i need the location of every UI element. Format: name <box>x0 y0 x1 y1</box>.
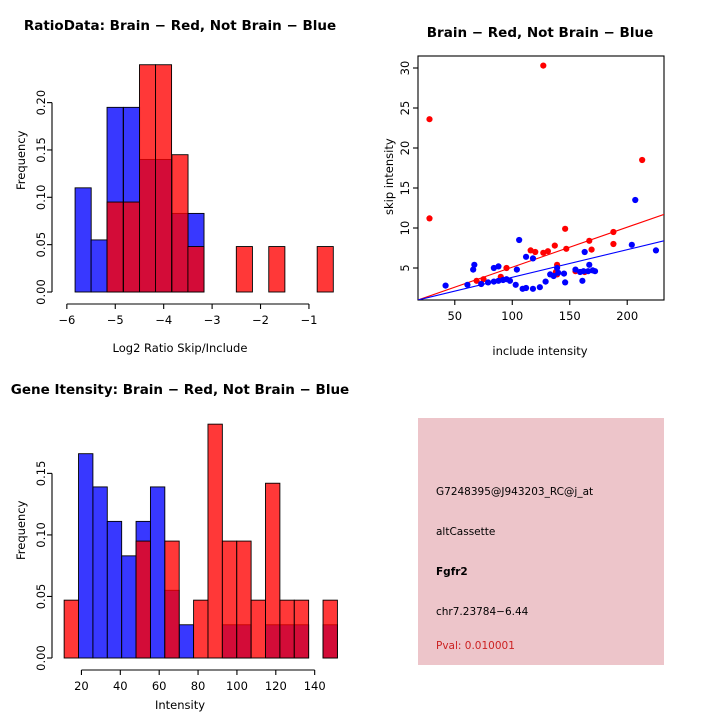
scatter-point-not-brain <box>491 279 497 285</box>
gene-bar-brain <box>136 541 150 658</box>
gene-bar-brain <box>222 541 236 658</box>
gene-bar-brain <box>64 600 78 658</box>
ratio-histogram-xlabel: Log2 Ratio Skip/Include <box>0 341 360 355</box>
gene-xtick-label: 100 <box>226 679 248 693</box>
scatter-point-not-brain <box>514 267 520 273</box>
panel-annotation: G7248395@J943203_RC@j_at altCassette Fgf… <box>360 360 720 720</box>
gene-bar-not-brain <box>79 454 93 658</box>
scatter-point-brain <box>426 215 432 221</box>
scatter-point-not-brain <box>542 279 548 285</box>
ratio-ytick-label: 0.10 <box>34 185 48 211</box>
ratio-xtick-label: −4 <box>155 313 172 327</box>
gene-histogram-title: Gene Itensity: Brain − Red, Not Brain − … <box>0 382 360 398</box>
scatter-point-not-brain <box>586 262 592 268</box>
ratio-bar-brain <box>123 202 139 292</box>
gene-xtick-label: 60 <box>152 679 167 693</box>
scatter-plot-group: 5101520253050100150200 <box>398 56 664 323</box>
scatter-point-brain <box>610 229 616 235</box>
ratio-histogram-ylabel: Frequency <box>14 131 28 190</box>
gene-bar-brain <box>266 483 280 658</box>
scatter-xlabel: include intensity <box>360 344 720 358</box>
scatter-ytick-label: 10 <box>398 221 412 236</box>
ratio-ytick-label: 0.00 <box>34 279 48 305</box>
scatter-point-not-brain <box>629 242 635 248</box>
ratio-bar-brain <box>269 247 285 292</box>
scatter-fit-line-not-brain-fit <box>418 241 664 300</box>
ratio-bar-not-brain <box>75 188 91 292</box>
scatter-point-not-brain <box>516 237 522 243</box>
scatter-point-brain <box>426 116 432 122</box>
ratio-ytick-label: 0.15 <box>34 137 48 163</box>
ratio-xtick-label: −3 <box>204 313 221 327</box>
scatter-point-not-brain <box>582 249 588 255</box>
gene-bar-not-brain <box>107 521 121 658</box>
scatter-plot: 5101520253050100150200 <box>360 0 720 360</box>
gene-symbol-text: Fgfr2 <box>436 566 468 578</box>
scatter-point-brain <box>563 246 569 252</box>
gene-histogram-plot: 0.000.050.100.1520406080100120140 <box>0 360 360 720</box>
ratio-histogram-plot: 0.000.050.100.150.20−6−5−4−3−2−1 <box>0 0 360 360</box>
gene-xtick-label: 20 <box>74 679 89 693</box>
ratio-bar-brain <box>172 155 188 292</box>
scatter-point-brain <box>540 250 546 256</box>
scatter-point-not-brain <box>547 271 553 277</box>
ratio-plot-group: 0.000.050.100.150.20−6−5−4−3−2−1 <box>34 65 333 327</box>
scatter-point-not-brain <box>561 271 567 277</box>
scatter-ytick-label: 25 <box>398 101 412 116</box>
ratio-ytick-label: 0.05 <box>34 232 48 258</box>
gene-bar-brain <box>294 600 308 658</box>
event-type-text: altCassette <box>436 526 495 538</box>
scatter-point-not-brain <box>491 265 497 271</box>
scatter-ytick-label: 15 <box>398 181 412 196</box>
gene-xtick-label: 140 <box>304 679 326 693</box>
gene-bar-brain <box>280 600 294 658</box>
scatter-point-brain <box>639 157 645 163</box>
scatter-point-not-brain <box>513 282 519 288</box>
gene-ytick-label: 0.00 <box>34 645 48 671</box>
scatter-point-not-brain <box>520 286 526 292</box>
ratio-xtick-label: −6 <box>58 313 75 327</box>
ratio-bar-brain <box>139 65 155 292</box>
annotation-box: G7248395@J943203_RC@j_at altCassette Fgf… <box>418 418 664 665</box>
gene-bar-not-brain <box>122 556 136 658</box>
scatter-inner <box>418 63 664 301</box>
scatter-point-not-brain <box>632 197 638 203</box>
gene-ytick-label: 0.10 <box>34 522 48 548</box>
ratio-bar-not-brain <box>91 240 107 292</box>
scatter-ytick-label: 20 <box>398 141 412 156</box>
gene-bar-brain <box>251 600 265 658</box>
gene-bar-brain <box>194 600 208 658</box>
scatter-point-brain <box>586 238 592 244</box>
scatter-point-not-brain <box>464 282 470 288</box>
scatter-point-not-brain <box>653 247 659 253</box>
ratio-bar-brain <box>236 247 252 292</box>
scatter-point-not-brain <box>478 281 484 287</box>
scatter-point-brain <box>503 265 509 271</box>
scatter-xtick-label: 50 <box>447 309 462 323</box>
scatter-xtick-label: 200 <box>616 309 638 323</box>
locus-text: chr7.23784−6.44 <box>436 606 528 618</box>
scatter-ytick-label: 30 <box>398 61 412 76</box>
scatter-title: Brain − Red, Not Brain − Blue <box>360 25 720 41</box>
gene-xtick-label: 120 <box>265 679 287 693</box>
scatter-xtick-label: 150 <box>559 309 581 323</box>
ratio-bar-brain <box>188 247 204 292</box>
scatter-point-not-brain <box>572 267 578 273</box>
panel-gene-histogram: Gene Itensity: Brain − Red, Not Brain − … <box>0 360 360 720</box>
scatter-point-not-brain <box>592 268 598 274</box>
scatter-point-not-brain <box>537 284 543 290</box>
scatter-point-brain <box>610 241 616 247</box>
gene-ytick-label: 0.15 <box>34 461 48 487</box>
gene-bar-brain <box>165 541 179 658</box>
scatter-point-not-brain <box>579 278 585 284</box>
scatter-point-not-brain <box>485 279 491 285</box>
scatter-plot-frame <box>418 56 664 300</box>
scatter-point-brain <box>540 63 546 69</box>
ratio-bar-brain <box>155 65 171 292</box>
gene-plot-group: 0.000.050.100.1520406080100120140 <box>34 424 337 693</box>
gene-bar-not-brain <box>150 487 164 658</box>
scatter-point-not-brain <box>562 279 568 285</box>
gene-histogram-ylabel: Frequency <box>14 501 28 560</box>
panel-ratio-histogram: RatioData: Brain − Red, Not Brain − Blue… <box>0 0 360 360</box>
ratio-xtick-label: −5 <box>107 313 124 327</box>
scatter-point-not-brain <box>442 283 448 289</box>
scatter-point-brain <box>588 247 594 253</box>
gene-bar-not-brain <box>93 487 107 658</box>
pval-text: Pval: 0.010001 <box>436 640 515 652</box>
scatter-xtick-label: 100 <box>501 309 523 323</box>
gene-ytick-label: 0.05 <box>34 584 48 610</box>
gene-bar-brain <box>208 424 222 658</box>
figure-canvas: RatioData: Brain − Red, Not Brain − Blue… <box>0 0 720 720</box>
scatter-point-brain <box>562 226 568 232</box>
gene-bar-not-brain <box>179 625 193 658</box>
scatter-ylabel: skip intensity <box>382 138 396 215</box>
scatter-point-not-brain <box>530 286 536 292</box>
probe-id-text: G7248395@J943203_RC@j_at <box>436 486 593 498</box>
ratio-ytick-label: 0.20 <box>34 90 48 116</box>
scatter-point-brain <box>552 243 558 249</box>
panel-scatter: Brain − Red, Not Brain − Blue 5101520253… <box>360 0 720 360</box>
scatter-ytick-label: 5 <box>398 264 412 271</box>
ratio-xtick-label: −1 <box>300 313 317 327</box>
ratio-xtick-label: −2 <box>252 313 269 327</box>
scatter-point-not-brain <box>523 254 529 260</box>
ratio-histogram-title: RatioData: Brain − Red, Not Brain − Blue <box>0 18 360 34</box>
gene-bar-brain <box>237 541 251 658</box>
gene-histogram-xlabel: Intensity <box>0 698 360 712</box>
gene-bar-brain <box>323 600 337 658</box>
gene-xtick-label: 40 <box>113 679 128 693</box>
ratio-bar-brain <box>107 202 123 292</box>
scatter-point-brain <box>528 247 534 253</box>
scatter-point-not-brain <box>470 267 476 273</box>
scatter-point-not-brain <box>530 255 536 261</box>
ratio-bar-brain <box>317 247 333 292</box>
gene-xtick-label: 80 <box>191 679 206 693</box>
